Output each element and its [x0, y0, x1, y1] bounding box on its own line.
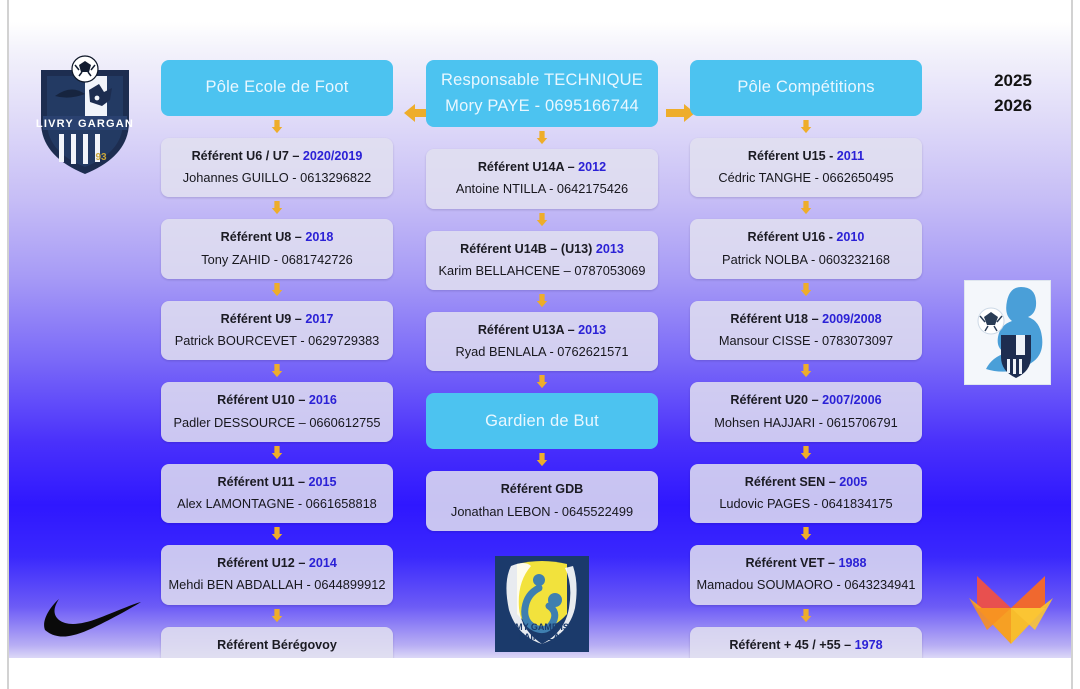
fairplay-line2: FAIR PLAY	[519, 632, 565, 642]
arrow-down-icon	[161, 523, 393, 545]
referent-birth-year: 2010	[836, 230, 864, 244]
header-line: Pôle Compétitions	[737, 75, 874, 101]
header-line: Pôle Ecole de Foot	[205, 75, 348, 101]
referent-contact: Karim BELLAHCENE – 0787053069	[432, 261, 652, 280]
referent-card[interactable]: Référent U6 / U7 – 2020/2019Johannes GUI…	[161, 138, 393, 197]
referent-birth-year: 2018	[305, 230, 333, 244]
referent-role: Référent U14B – (U13) 2013	[432, 240, 652, 258]
arrow-down-icon	[690, 442, 922, 464]
referent-card[interactable]: Référent + 45 / +55 – 1978Olivier VERE –…	[690, 627, 922, 658]
referent-role: Référent U8 – 2018	[167, 228, 387, 246]
referent-birth-year: 2014	[309, 556, 337, 570]
header-line: Responsable TECHNIQUE	[441, 68, 643, 94]
arrow-down-icon	[161, 442, 393, 464]
referent-card[interactable]: Référent VET – 1988Mamadou SOUMAORO - 06…	[690, 545, 922, 604]
arrow-down-icon	[161, 197, 393, 219]
referent-birth-year: 2007/2006	[822, 393, 882, 407]
referent-card[interactable]: Référent U18 – 2009/2008Mansour CISSE - …	[690, 301, 922, 360]
referent-contact: Patrick BOURCEVET - 0629729383	[167, 331, 387, 350]
referent-birth-year: 2017	[305, 312, 333, 326]
referent-role: Référent Bérégovoy	[167, 636, 387, 654]
referent-birth-year: 2012	[578, 160, 606, 174]
referent-contact: Alex LAMONTAGNE - 0661658818	[167, 494, 387, 513]
referent-contact: Ludovic PAGES - 0641834175	[696, 494, 916, 513]
header-responsable-technique[interactable]: Responsable TECHNIQUEMory PAYE - 0695166…	[426, 60, 658, 127]
slide-viewer: LIVRY GARGAN 93 LIVRY GARGAN 2025 2026	[0, 0, 1080, 689]
referent-birth-year: 2013	[596, 242, 624, 256]
referent-birth-year: 2013	[578, 323, 606, 337]
referent-contact: Ryad BENLALA - 0762621571	[432, 342, 652, 361]
referent-card[interactable]: Référent U8 – 2018Tony ZAHID - 068174272…	[161, 219, 393, 278]
club-crest-text: LIVRY GARGAN	[141, 52, 142, 53]
referent-birth-year: 2020/2019	[303, 149, 363, 163]
arrow-down-icon	[426, 371, 658, 393]
arrow-down-icon	[690, 360, 922, 382]
referent-role: Référent U10 – 2016	[167, 391, 387, 409]
orange-fox-logo	[967, 568, 1055, 648]
arrow-down-icon	[690, 197, 922, 219]
referent-card[interactable]: Référent U15 - 2011Cédric TANGHE - 06626…	[690, 138, 922, 197]
referent-card[interactable]: Référent U11 – 2015Alex LAMONTAGNE - 066…	[161, 464, 393, 523]
referent-card[interactable]: Référent U10 – 2016Padler DESSOURCE – 06…	[161, 382, 393, 441]
livry-gargan-club-crest: LIVRY GARGAN 93 LIVRY GARGAN	[29, 52, 141, 178]
referent-birth-year: 2005	[839, 475, 867, 489]
nike-swoosh-logo	[37, 590, 145, 642]
referent-contact: Mamadou SOUMAORO - 0643234941	[696, 575, 916, 594]
header-pole-ecole-de-foot[interactable]: Pôle Ecole de Foot	[161, 60, 393, 116]
header-line: Mory PAYE - 0695166744	[445, 94, 639, 120]
arrow-down-icon	[690, 605, 922, 627]
referent-birth-year: 1988	[839, 556, 867, 570]
referent-role: Référent U12 – 2014	[167, 554, 387, 572]
referent-role: Référent U13A – 2013	[432, 321, 652, 339]
arrow-down-icon	[426, 449, 658, 471]
referent-contact: Cédric TANGHE - 0662650495	[696, 168, 916, 187]
referent-contact: Mansour CISSE - 0783073097	[696, 331, 916, 350]
referent-role: Référent VET – 1988	[696, 554, 916, 572]
referent-card[interactable]: Référent U14B – (U13) 2013Karim BELLAHCE…	[426, 231, 658, 290]
season-year-start: 2025	[973, 69, 1053, 94]
referent-role: Référent GDB	[432, 480, 652, 498]
season-year-end: 2026	[973, 94, 1053, 119]
referent-contact: Jonathan LEBON - 0645522499	[432, 502, 652, 521]
arrow-down-icon	[426, 290, 658, 312]
referent-card[interactable]: Référent U14A – 2012Antoine NTILLA - 064…	[426, 149, 658, 208]
referent-contact: Antoine NTILLA - 0642175426	[432, 179, 652, 198]
referent-card[interactable]: Référent U12 – 2014Mehdi BEN ABDALLAH - …	[161, 545, 393, 604]
arrow-down-icon	[161, 360, 393, 382]
arrow-down-icon	[690, 523, 922, 545]
referent-contact: Patrick NOLBA - 0603232168	[696, 250, 916, 269]
referent-contact: Philippe BOKETSHU - 0613511566	[167, 657, 387, 658]
referent-card[interactable]: Référent U16 - 2010Patrick NOLBA - 06032…	[690, 219, 922, 278]
referent-birth-year: 2015	[308, 475, 336, 489]
referent-birth-year: 2011	[837, 149, 864, 163]
referent-card[interactable]: Référent U13A – 2013Ryad BENLALA - 07626…	[426, 312, 658, 371]
arrow-down-icon	[161, 279, 393, 301]
column-pole-ecole-de-foot: Pôle Ecole de FootRéférent U6 / U7 – 202…	[161, 60, 393, 658]
referent-role: Référent U6 / U7 – 2020/2019	[167, 147, 387, 165]
referent-contact: Mehdi BEN ABDALLAH - 0644899912	[167, 575, 387, 594]
header-pole-competitions[interactable]: Pôle Compétitions	[690, 60, 922, 116]
arrow-down-icon	[426, 127, 658, 149]
referent-birth-year: 2009/2008	[822, 312, 882, 326]
svg-text:93: 93	[95, 152, 107, 163]
viewer-right-border	[1071, 0, 1073, 689]
referent-contact: Padler DESSOURCE – 0660612755	[167, 413, 387, 432]
referent-contact: Johannes GUILLO - 0613296822	[167, 168, 387, 187]
arrow-down-icon	[690, 279, 922, 301]
header-gardien-de-but[interactable]: Gardien de But	[426, 393, 658, 449]
season-years: 2025 2026	[973, 69, 1053, 118]
referent-role: Référent U18 – 2009/2008	[696, 310, 916, 328]
arrow-down-icon	[690, 116, 922, 138]
fairplay-line1: MY GAME IS	[515, 622, 569, 632]
referent-role: Référent SEN – 2005	[696, 473, 916, 491]
referent-role: Référent U15 - 2011	[696, 147, 916, 165]
my-game-is-fair-play-logo: MY GAME IS FAIR PLAY	[495, 556, 589, 652]
org-chart-slide: LIVRY GARGAN 93 LIVRY GARGAN 2025 2026	[9, 22, 1071, 658]
referent-card[interactable]: Référent U20 – 2007/2006Mohsen HAJJARI -…	[690, 382, 922, 441]
column-pole-competitions: Pôle CompétitionsRéférent U15 - 2011Cédr…	[690, 60, 922, 658]
referent-role: Référent U11 – 2015	[167, 473, 387, 491]
referent-birth-year: 2016	[309, 393, 337, 407]
referent-role: Référent U20 – 2007/2006	[696, 391, 916, 409]
referent-contact: Olivier VERE – 0625521235	[696, 657, 916, 658]
referent-card[interactable]: Référent U9 – 2017Patrick BOURCEVET - 06…	[161, 301, 393, 360]
player-silhouette-photo	[964, 280, 1051, 385]
referent-card[interactable]: Référent SEN – 2005Ludovic PAGES - 06418…	[690, 464, 922, 523]
arrow-down-icon	[161, 605, 393, 627]
referent-birth-year: 1978	[855, 638, 883, 652]
referent-contact: Mohsen HAJJARI - 0615706791	[696, 413, 916, 432]
referent-role: Référent U14A – 2012	[432, 158, 652, 176]
referent-card[interactable]: Référent BérégovoyPhilippe BOKETSHU - 06…	[161, 627, 393, 658]
referent-role: Référent U16 - 2010	[696, 228, 916, 246]
arrow-down-icon	[161, 116, 393, 138]
referent-role: Référent + 45 / +55 – 1978	[696, 636, 916, 654]
column-responsable-technique: Responsable TECHNIQUEMory PAYE - 0695166…	[426, 60, 658, 531]
referent-card[interactable]: Référent GDBJonathan LEBON - 0645522499	[426, 471, 658, 530]
arrow-down-icon	[426, 209, 658, 231]
svg-text:LIVRY GARGAN: LIVRY GARGAN	[36, 118, 134, 130]
header-line: Gardien de But	[485, 409, 599, 435]
referent-contact: Tony ZAHID - 0681742726	[167, 250, 387, 269]
referent-role: Référent U9 – 2017	[167, 310, 387, 328]
